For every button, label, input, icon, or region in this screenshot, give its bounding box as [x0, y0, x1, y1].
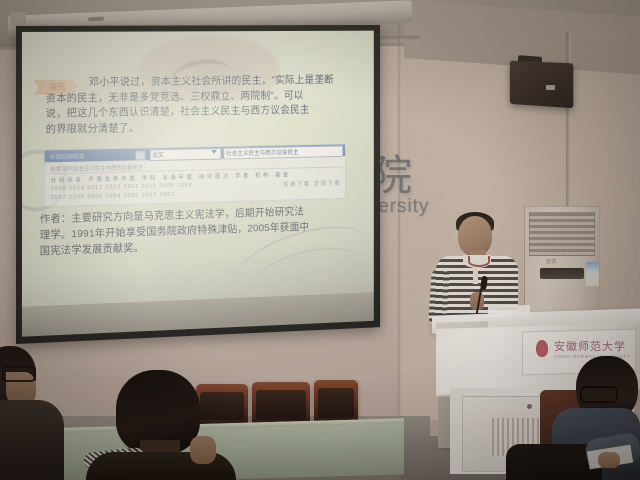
wall-speaker-icon	[510, 61, 573, 108]
chair	[252, 382, 310, 424]
university-emblem-icon	[536, 340, 548, 357]
podium-door-knob[interactable]	[527, 404, 532, 409]
cnki-year-row: 2007 2006 2005 2004 2003 2002 2001	[51, 192, 176, 201]
ac-vent-louvers	[529, 212, 595, 256]
cnki-toggle-button	[135, 150, 146, 160]
audience-left-body	[0, 400, 64, 480]
cnki-year-row: 2016 2014 2012 2012 2011 2010 2009 2008	[51, 183, 193, 193]
chevron-down-icon	[211, 150, 217, 154]
chair-seat	[256, 390, 306, 420]
cnki-type-value: 论文	[152, 150, 163, 159]
audience-right-hand	[598, 452, 620, 468]
chair-seat	[200, 392, 244, 420]
university-name-chinese: 安徽师范大学	[554, 338, 626, 354]
lecture-hall-photo: 院 ersity 探究 邓小平说过，资本主义社会所讲的民主，"实际上是垄断 资本…	[0, 0, 640, 480]
roller-brand-mark	[88, 17, 104, 22]
screen-surface: 探究 邓小平说过，资本主义社会所讲的民主，"实际上是垄断 资本的民主，无非是多党…	[22, 31, 374, 337]
ac-brand-label: 空调	[546, 258, 556, 265]
glasses-icon	[580, 386, 618, 403]
wall-corner	[398, 18, 401, 418]
projected-slide: 探究 邓小平说过，资本主义社会所讲的民主，"实际上是垄断 资本的民主，无非是多党…	[22, 31, 374, 337]
cnki-action-links: 免费下载 全部下载	[283, 179, 341, 188]
roller-end-cap	[10, 12, 26, 27]
wall-sign-english: ersity	[378, 196, 429, 218]
presenter-lanyard	[468, 256, 490, 267]
cnki-bar-label: 中国知网检索	[50, 152, 85, 162]
ac-display-panel	[540, 268, 584, 279]
audience-center-hand	[190, 436, 216, 464]
cnki-keyword-value: 社会主义民主与西方议会民主	[226, 147, 298, 157]
glasses-icon	[2, 366, 36, 382]
chair-seat	[318, 388, 354, 418]
slide-quote-block: 邓小平说过，资本主义社会所讲的民主，"实际上是垄断 资本的民主，无非是多党竞选、…	[46, 73, 350, 138]
chair	[314, 380, 358, 422]
cnki-search-screenshot: 中国知网检索 论文 社会主义民主与西方议会民主 检索 现代社会主义民主与西方议会…	[44, 143, 346, 207]
chair	[196, 384, 248, 424]
speaker-label	[546, 85, 555, 90]
ac-energy-sticker	[586, 262, 599, 286]
projection-screen: 探究 邓小平说过，资本主义社会所讲的民主，"实际上是垄断 资本的民主，无非是多党…	[16, 25, 380, 344]
